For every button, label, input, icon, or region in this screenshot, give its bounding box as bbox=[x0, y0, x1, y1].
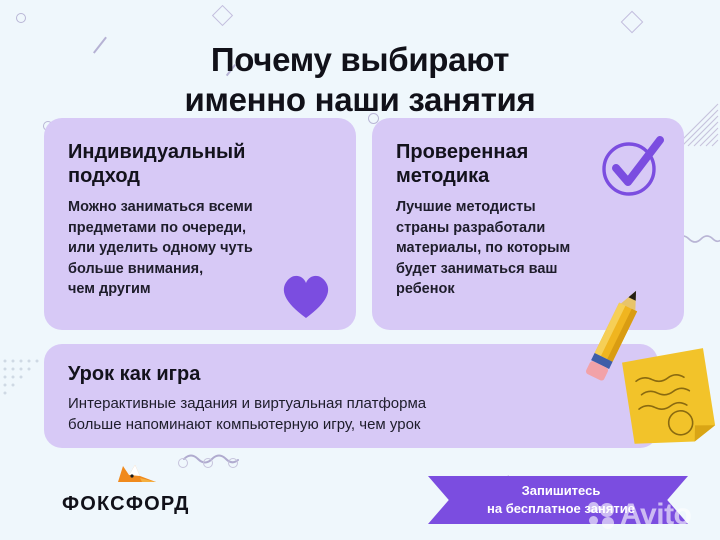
sticky-note-illustration bbox=[620, 348, 716, 448]
card-body: Интерактивные задания и виртуальная плат… bbox=[68, 393, 638, 436]
fox-icon bbox=[116, 464, 160, 486]
avito-dots-logo bbox=[588, 502, 618, 528]
card-title: Урок как игра bbox=[68, 362, 638, 386]
page-title: Почему выбирают именно наши занятия bbox=[0, 40, 720, 121]
heart-icon bbox=[278, 268, 334, 320]
page-title-line-1: Почему выбирают bbox=[0, 40, 720, 80]
small-circle-outline bbox=[178, 458, 188, 468]
small-circle-outline bbox=[228, 458, 238, 468]
page-title-line-2: именно наши занятия bbox=[0, 80, 720, 120]
small-circle-outline bbox=[203, 458, 213, 468]
check-circle-icon bbox=[598, 134, 664, 200]
wavy-line bbox=[183, 452, 245, 466]
card-title: Индивидуальный подход bbox=[68, 140, 336, 188]
feature-card-individual-approach: Индивидуальный подход Можно заниматься в… bbox=[44, 118, 356, 330]
avito-watermark: Avito bbox=[588, 494, 720, 536]
brand-logo[interactable]: ФОКСФОРД bbox=[62, 480, 190, 514]
feature-card-lesson-as-game: Урок как игра Интерактивные задания и ви… bbox=[44, 344, 658, 448]
brand-logo-text: ФОКСФОРД bbox=[62, 494, 190, 514]
poster-canvas: Почему выбирают именно наши занятия Инди… bbox=[0, 0, 720, 540]
diamond-outline bbox=[212, 5, 233, 26]
small-circle-outline bbox=[16, 13, 26, 23]
avito-wordmark: Avito bbox=[620, 500, 691, 530]
dot-grid-triangle bbox=[2, 358, 46, 398]
diamond-outline bbox=[621, 11, 644, 34]
